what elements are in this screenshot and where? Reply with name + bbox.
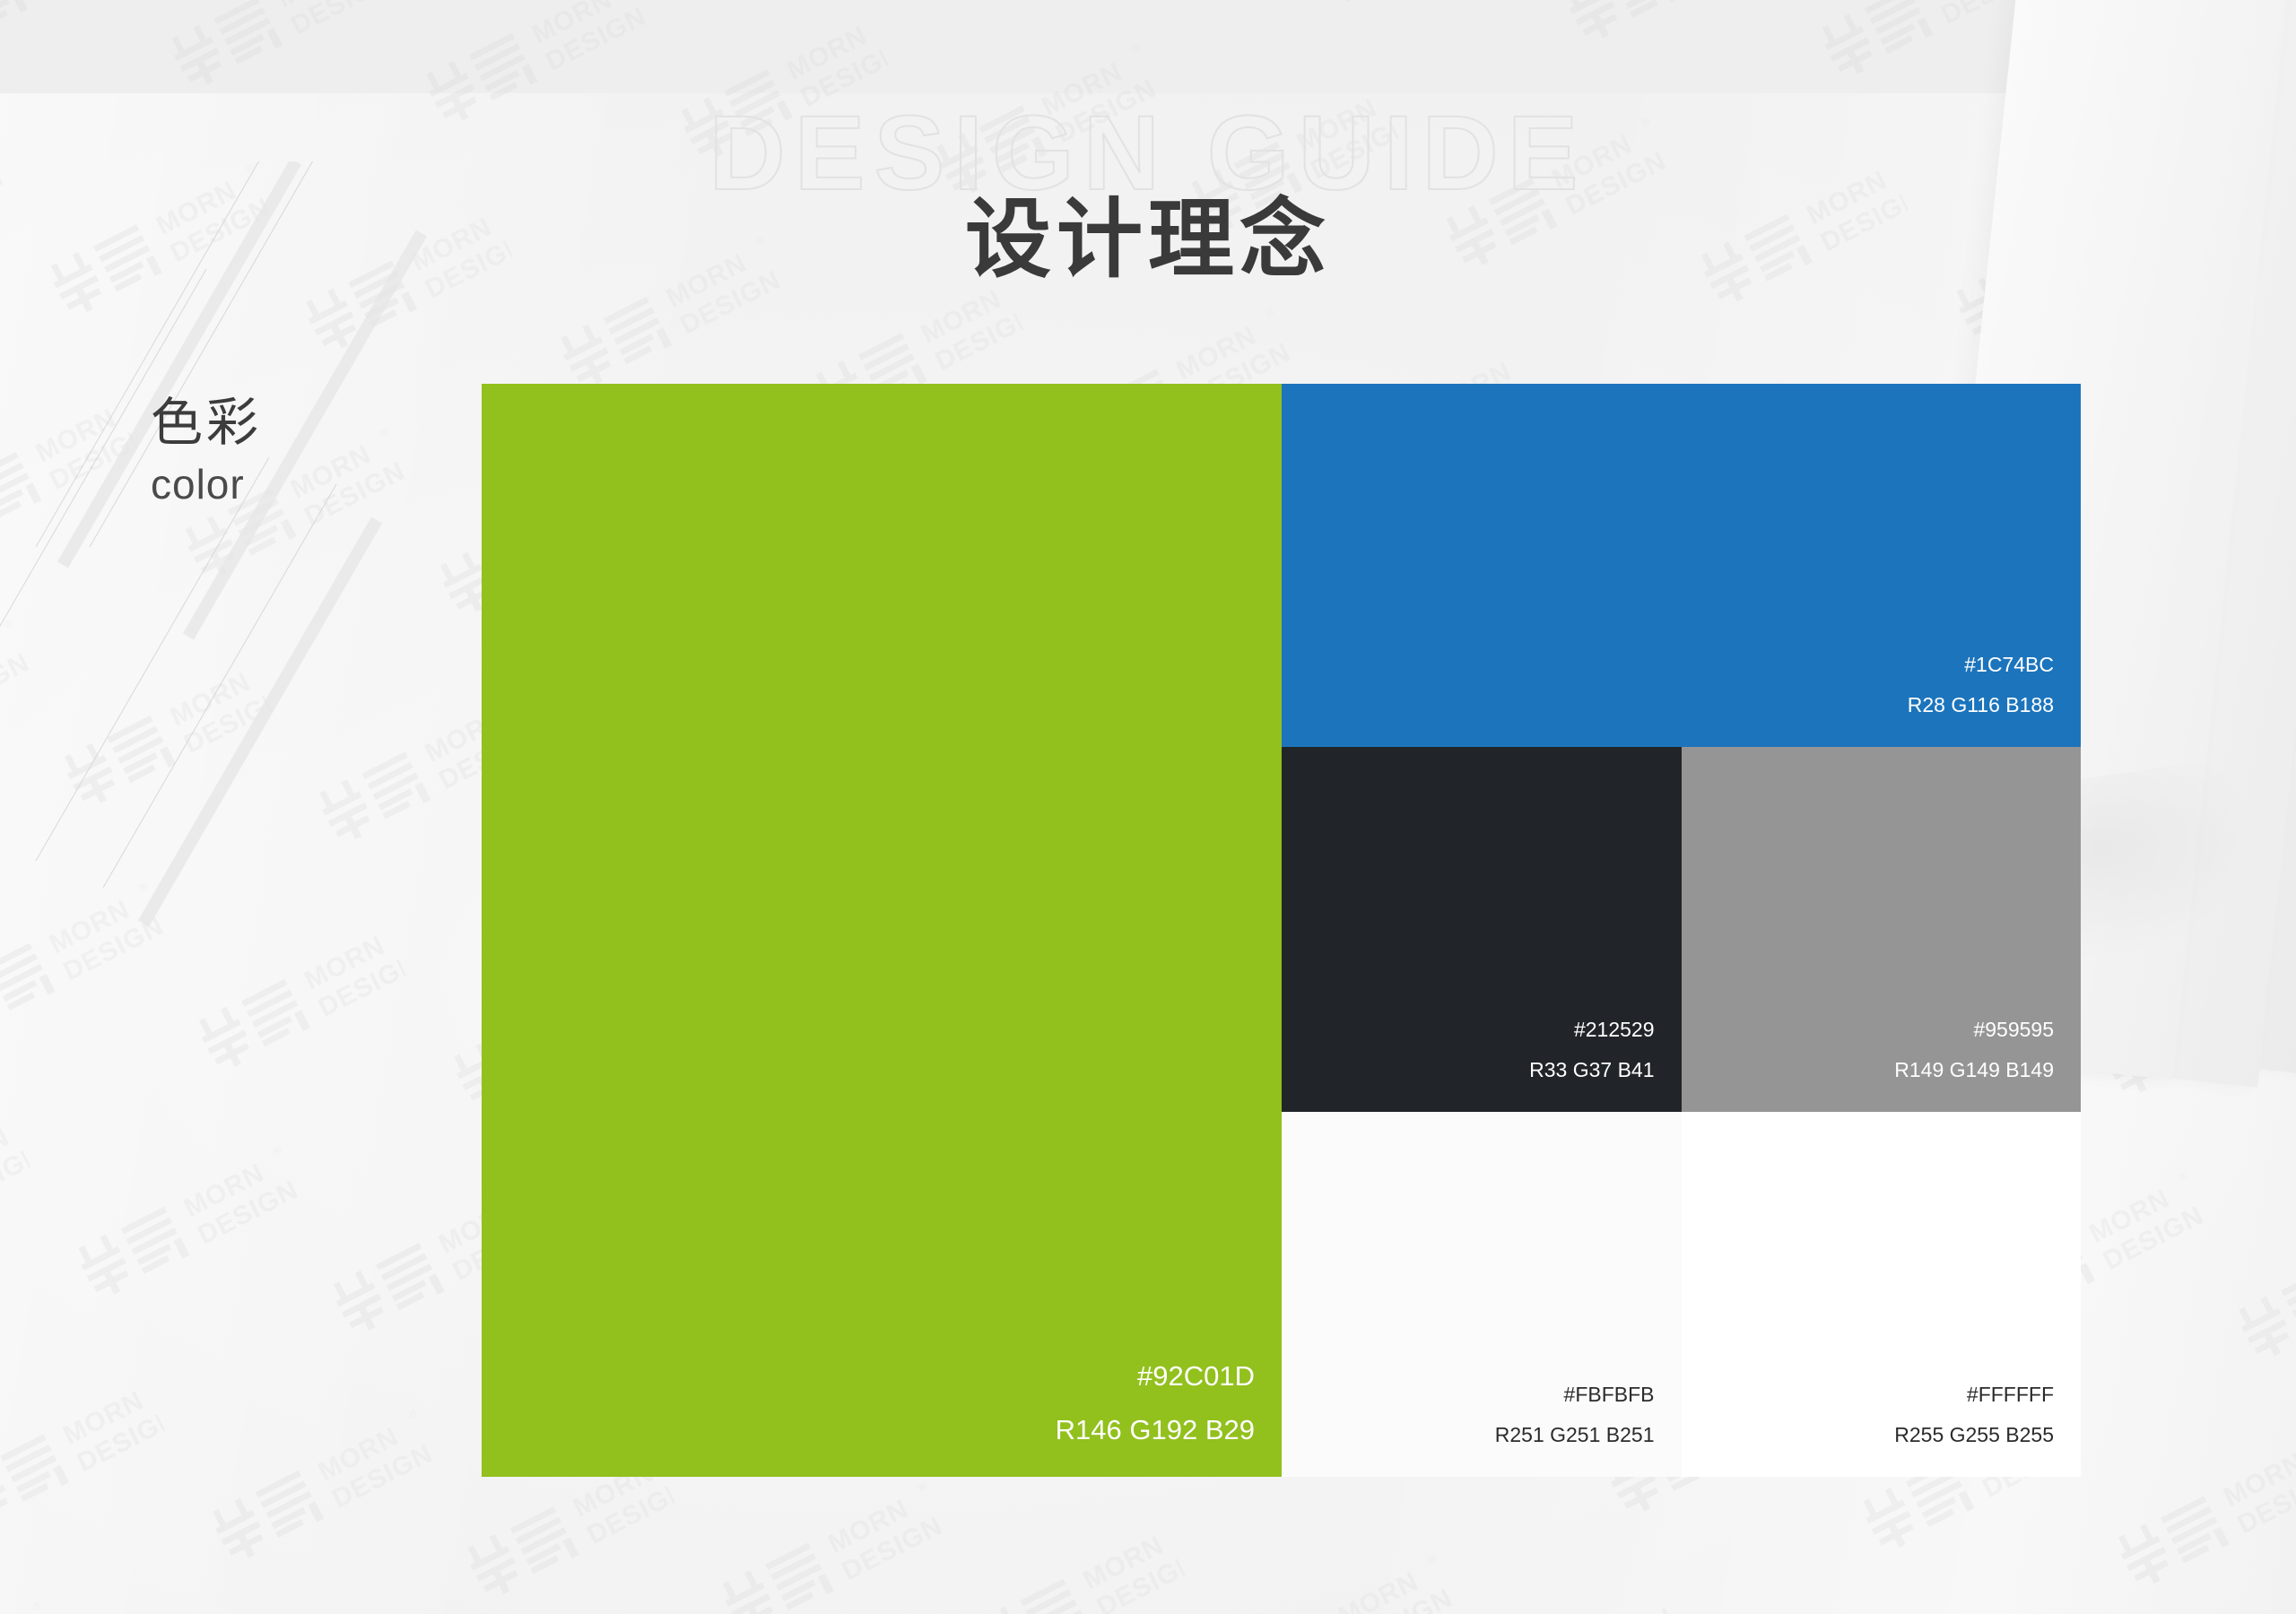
page-header: DESIGN GUIDE 设计理念 [0, 0, 2296, 296]
color-swatch-green[interactable]: #92C01D R146 G192 B29 [482, 384, 1282, 1477]
section-label-cn: 色彩 [151, 395, 262, 452]
color-swatch-dark[interactable]: #212529 R33 G37 B41 [1282, 747, 1682, 1112]
swatch-rgb-blue: R28 G116 B188 [1908, 690, 2054, 722]
color-swatch-blue[interactable]: #1C74BC R28 G116 B188 [1282, 384, 2081, 747]
swatch-label-offwhite: #FBFBFB R251 G251 B251 [1495, 1379, 1655, 1452]
swatch-rgb-white: R255 G255 B255 [1894, 1419, 2054, 1452]
color-grid-right-column: #1C74BC R28 G116 B188 #212529 R33 G37 B4… [1282, 384, 2081, 1477]
swatch-label-green: #92C01D R146 G192 B29 [1056, 1355, 1255, 1452]
color-swatch-gray[interactable]: #959595 R149 G149 B149 [1682, 747, 2082, 1112]
swatch-rgb-green: R146 G192 B29 [1056, 1409, 1255, 1452]
swatch-label-dark: #212529 R33 G37 B41 [1529, 1014, 1654, 1087]
swatch-rgb-gray: R149 G149 B149 [1894, 1054, 2054, 1087]
swatch-hex-offwhite: #FBFBFB [1495, 1379, 1655, 1411]
swatch-hex-dark: #212529 [1529, 1014, 1654, 1046]
swatch-hex-gray: #959595 [1894, 1014, 2054, 1046]
color-grid-bottom-row: #FBFBFB R251 G251 B251 #FFFFFF R255 G255… [1282, 1112, 2081, 1477]
swatch-rgb-offwhite: R251 G251 B251 [1495, 1419, 1655, 1452]
swatch-label-white: #FFFFFF R255 G255 B255 [1894, 1379, 2054, 1452]
page-title: 设计理念 [0, 196, 2296, 282]
section-label-en: color [151, 459, 262, 511]
swatch-hex-blue: #1C74BC [1908, 649, 2054, 681]
swatch-hex-white: #FFFFFF [1894, 1379, 2054, 1411]
swatch-hex-green: #92C01D [1056, 1355, 1255, 1398]
color-swatch-white[interactable]: #FFFFFF R255 G255 B255 [1682, 1112, 2082, 1477]
color-grid-middle-row: #212529 R33 G37 B41 #959595 R149 G149 B1… [1282, 747, 2081, 1112]
section-label-color: 色彩 color [151, 395, 262, 510]
swatch-label-gray: #959595 R149 G149 B149 [1894, 1014, 2054, 1087]
swatch-label-blue: #1C74BC R28 G116 B188 [1908, 649, 2054, 722]
color-swatch-offwhite[interactable]: #FBFBFB R251 G251 B251 [1282, 1112, 1682, 1477]
color-palette-grid: #92C01D R146 G192 B29 #1C74BC R28 G116 B… [482, 384, 2081, 1477]
swatch-rgb-dark: R33 G37 B41 [1529, 1054, 1654, 1087]
